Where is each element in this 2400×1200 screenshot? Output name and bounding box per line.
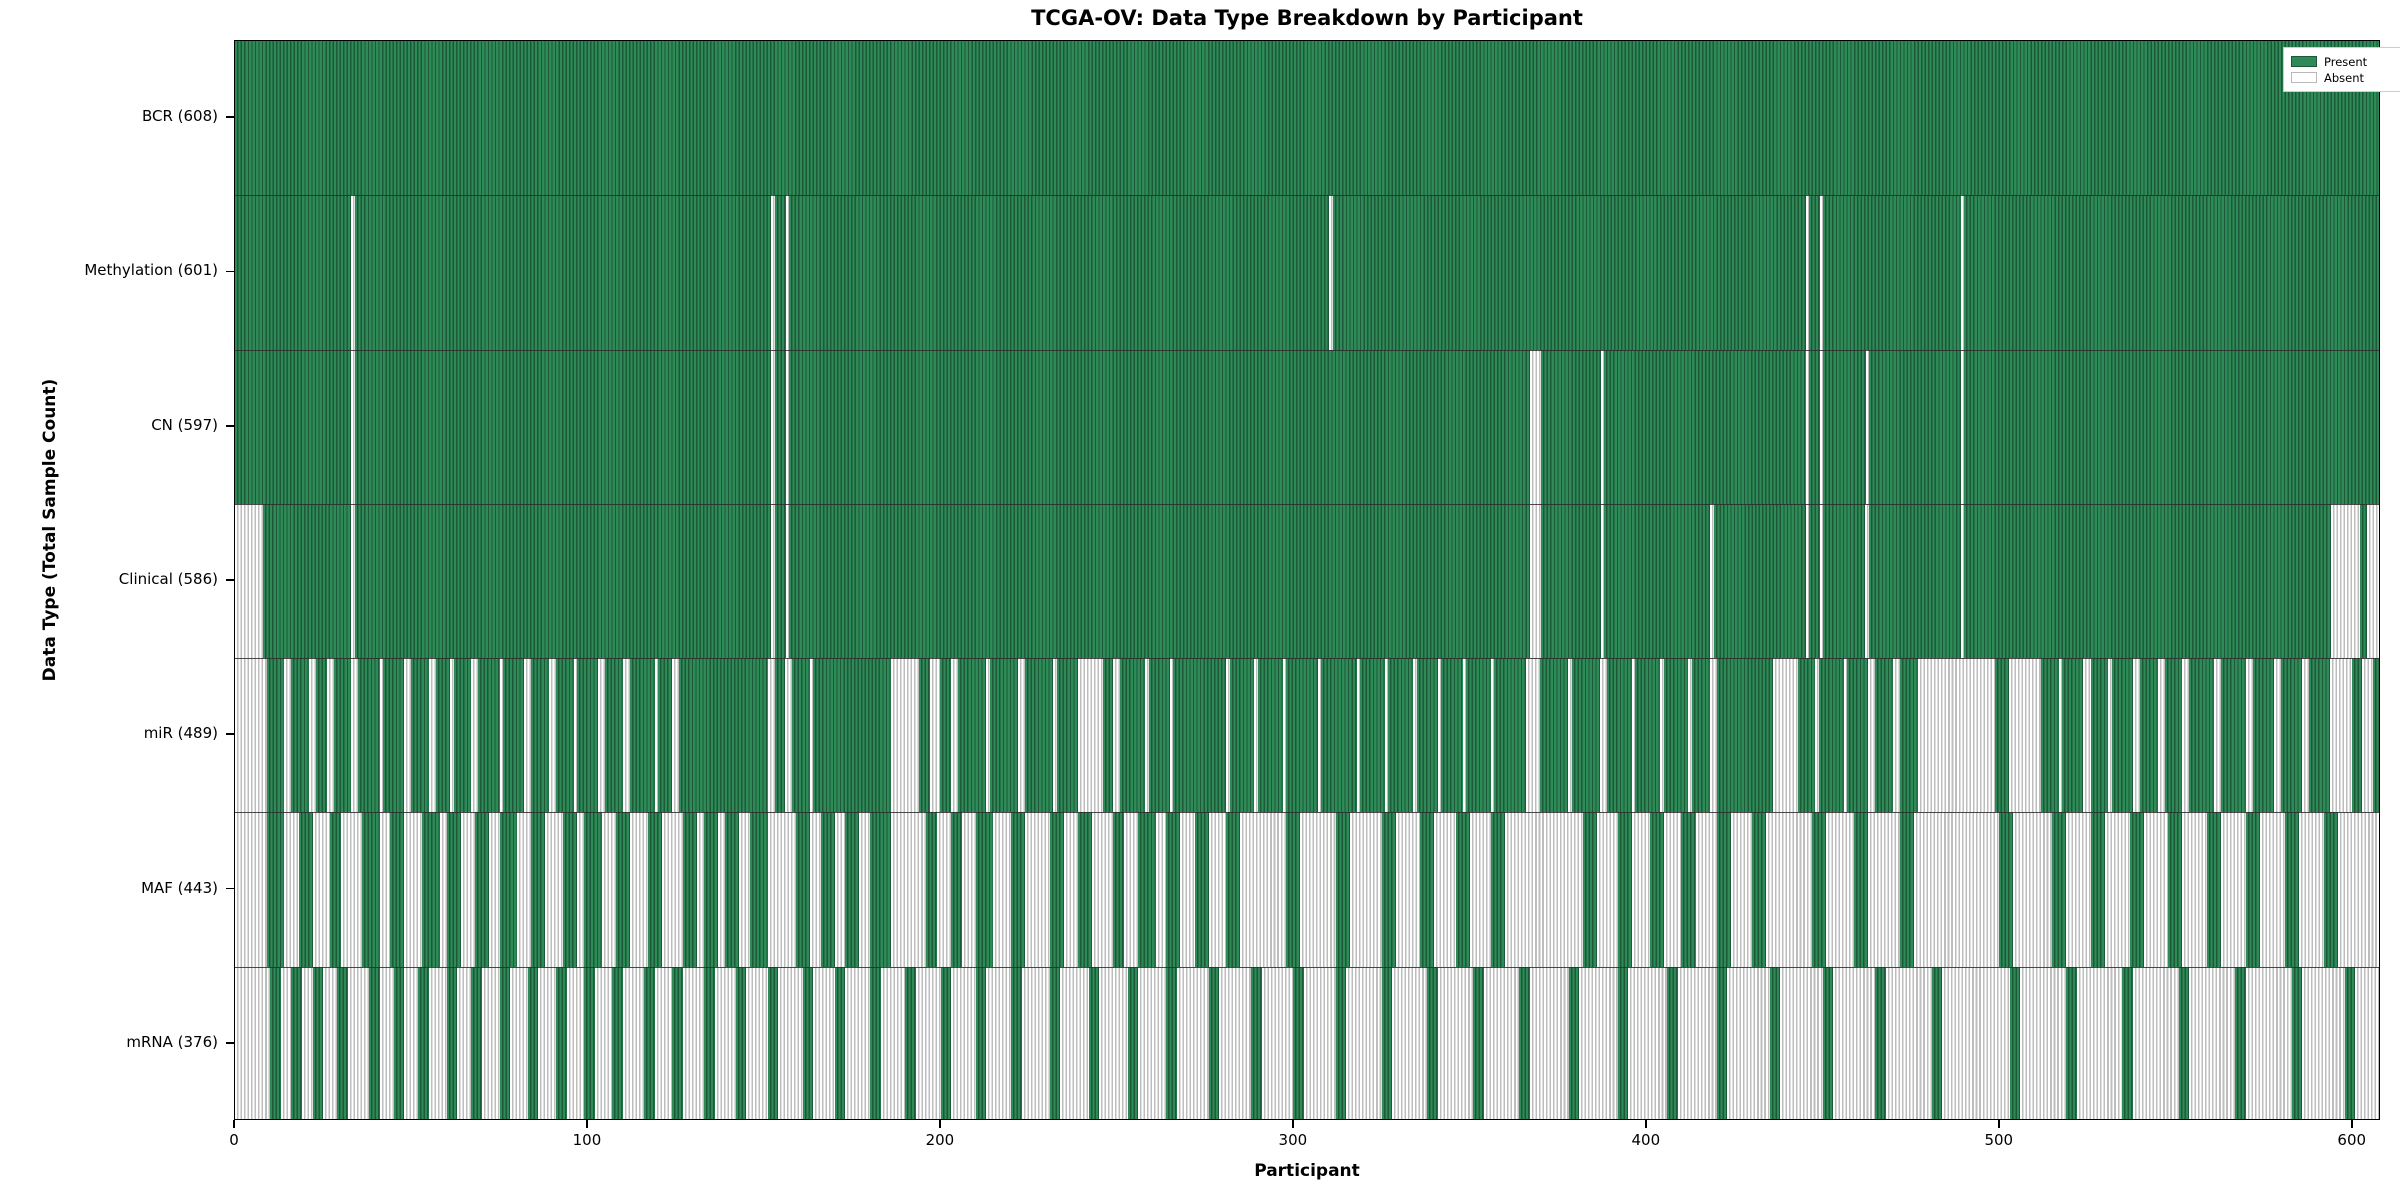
cell-run-absent: [380, 967, 394, 1120]
cell-run-present: [1717, 658, 1773, 812]
cell-run-present: [1569, 967, 1580, 1120]
cell-run-absent: [2182, 658, 2189, 812]
cell-run-absent: [813, 967, 834, 1120]
cell-run-absent: [1240, 812, 1286, 966]
cell-run-absent: [1078, 658, 1103, 812]
cell-run-absent: [662, 812, 683, 966]
cell-run-present: [704, 812, 718, 966]
heatmap-row-cn: [235, 350, 2379, 504]
cell-run-present: [976, 812, 994, 966]
cell-run-present: [1618, 812, 1632, 966]
cell-run-absent: [2214, 658, 2221, 812]
cell-run-present: [630, 658, 655, 812]
cell-run-present: [976, 967, 987, 1120]
cell-run-present: [2112, 658, 2133, 812]
cell-run-present: [2360, 504, 2367, 658]
cell-run-present: [796, 812, 810, 966]
cell-run-present: [2091, 812, 2105, 966]
cell-run-absent: [623, 658, 630, 812]
cell-run-absent: [489, 812, 500, 966]
cell-run-present: [2041, 658, 2059, 812]
cell-run-absent: [1526, 658, 1540, 812]
cell-run-present: [768, 967, 779, 1120]
cell-run-present: [503, 658, 524, 812]
cell-run-present: [2246, 812, 2260, 966]
cell-run-absent: [655, 967, 673, 1120]
cell-run-absent: [1092, 812, 1113, 966]
cell-run-present: [1473, 967, 1484, 1120]
cell-run-absent: [630, 812, 648, 966]
cell-run-absent: [1600, 658, 1607, 812]
cell-run-present: [556, 658, 574, 812]
cell-run-present: [1427, 967, 1438, 1120]
cell-run-absent: [2066, 812, 2091, 966]
cell-run-absent: [1346, 967, 1381, 1120]
cell-run-present: [1113, 812, 1124, 966]
cell-run-absent: [313, 812, 331, 966]
cell-run-present: [2010, 967, 2021, 1120]
cell-run-present: [1541, 504, 1601, 658]
cell-run-present: [1809, 504, 1820, 658]
cell-run-present: [2285, 812, 2299, 966]
cell-run-present: [454, 658, 472, 812]
cell-run-absent: [2144, 812, 2169, 966]
legend-item-present: Present: [2291, 54, 2400, 69]
cell-run-present: [870, 812, 891, 966]
cell-run-present: [2221, 658, 2246, 812]
cell-run-absent: [457, 967, 471, 1120]
cell-run-absent: [284, 812, 298, 966]
cell-run-absent: [2133, 967, 2179, 1120]
cell-run-present: [1050, 812, 1064, 966]
x-tick-mark: [1292, 1120, 1294, 1128]
cell-run-absent: [1727, 967, 1769, 1120]
heatmap-row-clinical: [235, 504, 2379, 658]
cell-run-present: [2066, 967, 2077, 1120]
x-tick-mark: [2351, 1120, 2353, 1128]
cell-run-absent: [1868, 658, 1875, 812]
cell-run-absent: [1530, 504, 1541, 658]
cell-run-present: [235, 195, 351, 349]
cell-run-absent: [327, 658, 334, 812]
cell-run-present: [750, 812, 768, 966]
cell-run-absent: [1942, 967, 2009, 1120]
cell-run-absent: [404, 967, 418, 1120]
cell-run-absent: [1392, 967, 1427, 1120]
cell-run-present: [2052, 812, 2066, 966]
row-separator: [235, 504, 2379, 505]
cell-run-present: [334, 658, 352, 812]
cell-run-present: [1823, 350, 1865, 504]
cell-run-absent: [309, 658, 316, 812]
cell-run-absent: [429, 658, 436, 812]
cell-run-present: [447, 967, 458, 1120]
cell-run-absent: [440, 812, 447, 966]
cell-run-present: [1336, 812, 1350, 966]
cell-run-present: [299, 812, 313, 966]
cell-run-absent: [1833, 967, 1875, 1120]
cell-run-absent: [1826, 812, 1854, 966]
cell-run-present: [926, 812, 937, 966]
cell-run-absent: [510, 967, 528, 1120]
cell-run-absent: [1438, 967, 1473, 1120]
cell-run-absent: [768, 658, 775, 812]
cell-run-present: [870, 967, 881, 1120]
cell-run-present: [2324, 812, 2338, 966]
cell-run-absent: [1484, 967, 1519, 1120]
cell-run-absent: [891, 658, 919, 812]
cell-run-present: [1812, 812, 1826, 966]
cell-run-present: [2373, 658, 2380, 812]
row-separator: [235, 195, 2379, 196]
cell-run-present: [2207, 812, 2221, 966]
cell-run-absent: [602, 812, 616, 966]
cell-run-present: [1025, 658, 1053, 812]
cell-run-present: [475, 812, 489, 966]
y-tick-label-maf: MAF (443): [0, 879, 218, 897]
heatmap-row-mir: [235, 658, 2379, 812]
cell-run-absent: [2246, 658, 2253, 812]
cell-run-present: [1770, 967, 1781, 1120]
cell-run-present: [1809, 350, 1820, 504]
cell-run-present: [1618, 967, 1629, 1120]
cell-run-absent: [2158, 658, 2165, 812]
y-tick-mark: [226, 1042, 234, 1044]
cell-run-absent: [916, 967, 941, 1120]
cell-run-absent: [715, 967, 736, 1120]
cell-run-absent: [2331, 504, 2359, 658]
row-separator: [235, 967, 2379, 968]
cell-run-absent: [2260, 812, 2285, 966]
cell-run-present: [1011, 967, 1022, 1120]
cell-run-present: [1964, 504, 2331, 658]
cell-run-absent: [1530, 350, 1541, 504]
cell-run-absent: [1262, 967, 1294, 1120]
cell-run-absent: [2083, 658, 2090, 812]
cell-run-present: [1869, 504, 1961, 658]
cell-run-present: [1321, 658, 1356, 812]
cell-run-absent: [962, 812, 976, 966]
cell-run-present: [383, 658, 404, 812]
cell-run-present: [1050, 967, 1061, 1120]
cell-run-absent: [1710, 658, 1717, 812]
cell-run-present: [775, 195, 786, 349]
cell-run-absent: [235, 967, 270, 1120]
cell-run-present: [1650, 812, 1664, 966]
x-tick-label: 0: [194, 1131, 274, 1149]
cell-run-present: [528, 967, 539, 1120]
x-tick-label: 600: [2312, 1131, 2392, 1149]
cell-run-present: [1382, 967, 1393, 1120]
cell-run-absent: [1530, 967, 1569, 1120]
cell-run-absent: [1018, 658, 1025, 812]
cell-run-present: [1494, 658, 1526, 812]
cell-run-absent: [881, 967, 906, 1120]
cell-run-present: [478, 658, 499, 812]
cell-run-present: [2165, 658, 2183, 812]
cell-run-present: [531, 812, 545, 966]
cell-run-absent: [1868, 812, 1900, 966]
legend-label-present: Present: [2324, 55, 2367, 69]
cell-run-present: [2352, 658, 2363, 812]
cell-run-present: [1798, 658, 1816, 812]
cell-run-present: [1226, 812, 1240, 966]
cell-run-present: [270, 967, 281, 1120]
cell-run-present: [1011, 812, 1025, 966]
cell-run-absent: [235, 504, 263, 658]
cell-run-absent: [1177, 967, 1209, 1120]
cell-run-present: [704, 967, 715, 1120]
cell-run-present: [821, 812, 835, 966]
cell-run-absent: [1064, 812, 1078, 966]
cell-run-absent: [2105, 812, 2130, 966]
cell-run-absent: [404, 658, 411, 812]
cell-run-present: [1999, 812, 2013, 966]
cell-run-present: [1604, 504, 1710, 658]
cell-run-present: [531, 658, 549, 812]
cell-run-present: [672, 967, 683, 1120]
heatmap-row-bcr: [235, 41, 2379, 195]
cell-run-present: [330, 812, 341, 966]
cell-run-present: [369, 967, 380, 1120]
cell-run-present: [1572, 658, 1600, 812]
cell-run-absent: [1918, 658, 1996, 812]
cell-run-present: [1195, 812, 1209, 966]
row-cells: [235, 967, 2379, 1120]
cell-run-absent: [1060, 967, 1088, 1120]
cell-run-absent: [2009, 658, 2041, 812]
cell-run-present: [1607, 658, 1632, 812]
cell-run-present: [1209, 967, 1220, 1120]
cell-run-present: [1286, 658, 1318, 812]
cell-run-present: [1360, 658, 1385, 812]
cell-run-present: [1819, 658, 1844, 812]
cell-run-absent: [1731, 812, 1752, 966]
cell-run-absent: [2189, 967, 2235, 1120]
cell-run-present: [500, 967, 511, 1120]
cell-run-present: [2309, 658, 2330, 812]
cell-run-absent: [785, 658, 792, 812]
cell-run-present: [235, 41, 2380, 195]
cell-run-absent: [1300, 812, 1335, 966]
cell-run-absent: [1628, 967, 1667, 1120]
cell-run-absent: [1773, 658, 1798, 812]
cell-run-absent: [739, 812, 750, 966]
cell-run-absent: [1209, 812, 1227, 966]
cell-run-absent: [2274, 658, 2281, 812]
cell-run-present: [1847, 658, 1868, 812]
cell-run-absent: [1180, 812, 1194, 966]
cell-run-present: [422, 812, 440, 966]
x-tick-mark: [233, 1120, 235, 1128]
cell-run-present: [1491, 812, 1505, 966]
cell-run-present: [2179, 967, 2190, 1120]
cell-run-present: [775, 504, 786, 658]
cell-run-present: [1441, 658, 1462, 812]
cell-run-absent: [697, 812, 704, 966]
y-tick-label-bcr: BCR (608): [0, 107, 218, 125]
cell-run-absent: [1505, 812, 1583, 966]
cell-run-present: [1382, 812, 1396, 966]
cell-run-present: [313, 967, 324, 1120]
legend: Present Absent: [2283, 47, 2400, 92]
plot-area: [234, 40, 2380, 1120]
cell-run-present: [958, 658, 986, 812]
heatmap-row-maf: [235, 812, 2379, 966]
heatmap-row-mrna: [235, 967, 2379, 1120]
cell-run-present: [658, 658, 672, 812]
y-axis-title: Data Type (Total Sample Count): [40, 220, 60, 840]
y-tick-mark: [226, 579, 234, 581]
cell-run-present: [1583, 812, 1597, 966]
cell-run-present: [789, 504, 1530, 658]
cell-run-present: [1664, 658, 1689, 812]
cell-run-present: [789, 350, 1530, 504]
cell-run-absent: [351, 658, 358, 812]
cell-run-absent: [1396, 812, 1421, 966]
cell-run-absent: [577, 812, 584, 966]
cell-run-present: [436, 658, 450, 812]
cell-run-present: [789, 195, 1329, 349]
cell-run-present: [291, 658, 309, 812]
cell-run-absent: [1219, 967, 1251, 1120]
y-tick-label-mrna: mRNA (376): [0, 1033, 218, 1051]
cell-run-present: [1717, 967, 1728, 1120]
cell-run-absent: [2355, 967, 2380, 1120]
cell-run-absent: [1766, 812, 1812, 966]
cell-run-present: [1900, 812, 1914, 966]
cell-run-present: [1604, 350, 1805, 504]
cell-run-absent: [1099, 967, 1127, 1120]
cell-run-absent: [683, 967, 704, 1120]
cell-run-absent: [348, 967, 369, 1120]
x-tick-label: 200: [900, 1131, 980, 1149]
cell-run-absent: [524, 658, 531, 812]
cell-run-absent: [429, 967, 447, 1120]
y-tick-label-methylation: Methylation (601): [0, 261, 218, 279]
cell-run-present: [1900, 658, 1918, 812]
cell-run-present: [1809, 195, 1820, 349]
cell-run-absent: [567, 967, 585, 1120]
cell-run-present: [2189, 658, 2214, 812]
cell-run-present: [1875, 967, 1886, 1120]
cell-run-present: [1823, 967, 1834, 1120]
cell-run-absent: [1304, 967, 1336, 1120]
cell-run-present: [940, 658, 951, 812]
x-tick-mark: [939, 1120, 941, 1128]
cell-run-absent: [2221, 812, 2246, 966]
cell-run-present: [263, 504, 351, 658]
cell-run-present: [1138, 812, 1156, 966]
cell-run-present: [1714, 504, 1806, 658]
x-tick-label: 100: [547, 1131, 627, 1149]
cell-run-present: [736, 967, 747, 1120]
cell-run-absent: [281, 967, 292, 1120]
cell-run-present: [835, 967, 846, 1120]
row-cells: [235, 350, 2379, 504]
cell-run-present: [471, 967, 482, 1120]
cell-run-present: [1466, 658, 1491, 812]
cell-run-absent: [859, 812, 870, 966]
cell-run-absent: [538, 967, 556, 1120]
cell-run-absent: [930, 658, 941, 812]
cell-run-present: [775, 658, 786, 812]
cell-run-absent: [891, 812, 926, 966]
cell-run-present: [1540, 658, 1568, 812]
cell-run-absent: [993, 812, 1011, 966]
x-tick-mark: [1645, 1120, 1647, 1128]
cell-run-present: [792, 658, 810, 812]
cell-run-present: [584, 812, 602, 966]
cell-run-absent: [1914, 812, 1999, 966]
cell-run-absent: [951, 967, 976, 1120]
x-tick-label: 400: [1606, 1131, 1686, 1149]
legend-item-absent: Absent: [2291, 70, 2400, 85]
cell-run-present: [500, 812, 518, 966]
cell-run-absent: [517, 812, 531, 966]
cell-run-present: [1823, 504, 1865, 658]
cell-run-present: [951, 812, 962, 966]
cell-run-present: [1417, 658, 1438, 812]
cell-run-present: [1964, 195, 2380, 349]
cell-run-absent: [2013, 812, 2052, 966]
cell-run-present: [584, 967, 595, 1120]
x-tick-label: 500: [1959, 1131, 2039, 1149]
cell-run-present: [1258, 658, 1283, 812]
row-cells: [235, 504, 2379, 658]
cell-run-present: [1667, 967, 1678, 1120]
cell-run-absent: [1893, 658, 1900, 812]
cell-run-absent: [2330, 658, 2351, 812]
cell-run-present: [1420, 812, 1434, 966]
row-cells: [235, 658, 2379, 812]
row-separator: [235, 350, 2379, 351]
cell-run-present: [725, 812, 739, 966]
cell-run-present: [390, 812, 404, 966]
cell-run-present: [1251, 967, 1262, 1120]
cell-run-present: [411, 658, 429, 812]
cell-run-absent: [1156, 812, 1167, 966]
cell-run-absent: [951, 658, 958, 812]
cell-run-absent: [768, 812, 796, 966]
cell-run-present: [1120, 658, 1145, 812]
cell-run-absent: [595, 967, 613, 1120]
cell-run-present: [2091, 658, 2109, 812]
cell-run-absent: [2299, 812, 2324, 966]
figure-canvas: TCGA-OV: Data Type Breakdown by Particip…: [0, 0, 2400, 1200]
cell-run-present: [1854, 812, 1868, 966]
cell-run-present: [1149, 658, 1170, 812]
cell-run-present: [1128, 967, 1139, 1120]
cell-run-absent: [986, 967, 1011, 1120]
cell-run-present: [1692, 658, 1710, 812]
y-tick-mark: [226, 425, 234, 427]
cell-run-present: [605, 658, 623, 812]
cell-run-present: [644, 967, 655, 1120]
cell-run-absent: [835, 812, 846, 966]
cell-run-present: [2168, 812, 2182, 966]
cell-run-present: [556, 967, 567, 1120]
cell-run-absent: [746, 967, 767, 1120]
cell-run-absent: [404, 812, 422, 966]
cell-run-absent: [2302, 658, 2309, 812]
y-tick-label-clinical: Clinical (586): [0, 570, 218, 588]
cell-run-absent: [380, 812, 391, 966]
cell-run-present: [267, 812, 285, 966]
cell-run-present: [813, 658, 891, 812]
cell-run-present: [2292, 967, 2303, 1120]
cell-run-present: [683, 812, 697, 966]
